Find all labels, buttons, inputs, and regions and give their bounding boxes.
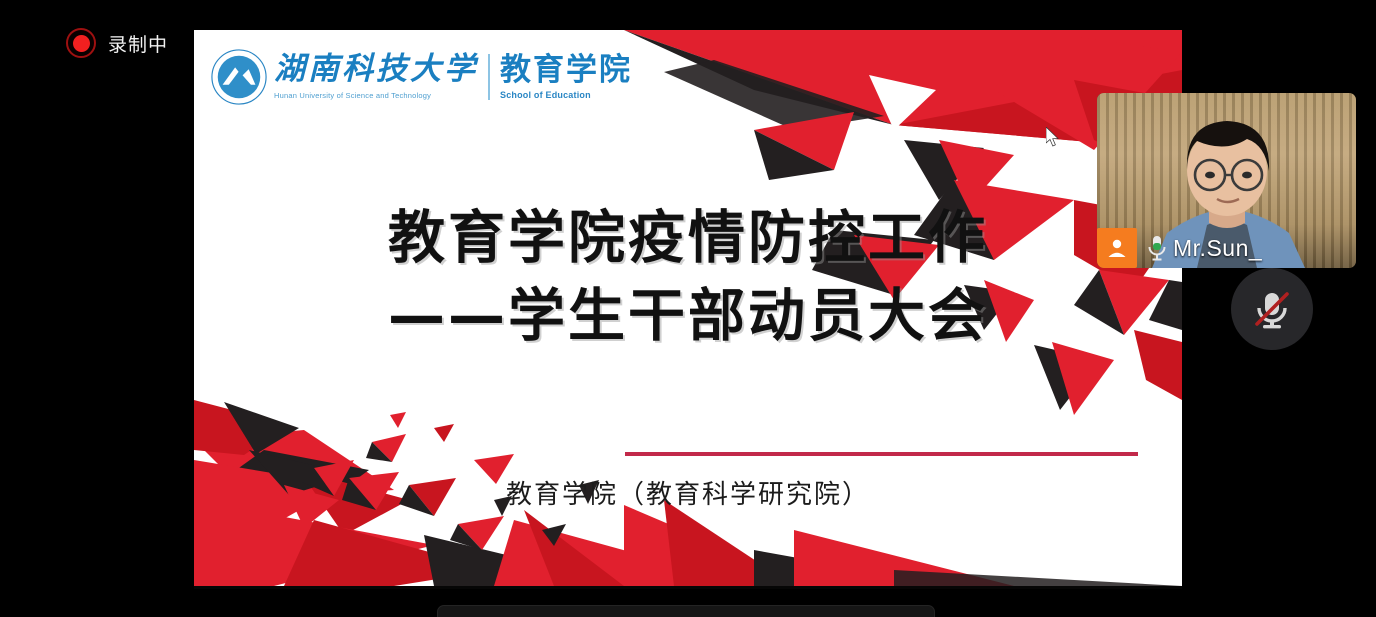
title-divider-rule — [625, 452, 1138, 456]
recording-label: 录制中 — [108, 30, 168, 57]
logo-university-block: 湖南科技大学 Hunan University of Science and T… — [268, 54, 490, 100]
slide-title-block: 教育学院疫情防控工作 ——学生干部动员大会 — [194, 208, 1182, 347]
slide-title-line1: 教育学院疫情防控工作 — [194, 208, 1182, 270]
presentation-slide[interactable]: 湖南科技大学 Hunan University of Science and T… — [194, 30, 1182, 586]
participant-name-label: Mr.Sun_ — [1173, 235, 1262, 262]
logo-university-en: Hunan University of Science and Technolo… — [274, 91, 478, 100]
logo-college-en: School of Education — [500, 90, 632, 100]
screen-root: 录制中 — [0, 0, 1376, 617]
logo-university-cn: 湖南科技大学 — [274, 54, 478, 85]
university-seal-icon — [210, 48, 268, 106]
university-logo: 湖南科技大学 Hunan University of Science and T… — [210, 48, 632, 106]
microphone-muted-icon[interactable] — [1231, 268, 1313, 350]
logo-college-block: 教育学院 School of Education — [490, 54, 632, 100]
slide-title-line2: ——学生干部动员大会 — [194, 286, 1182, 348]
record-dot-icon — [66, 28, 96, 58]
participant-video-tile[interactable]: Mr.Sun_ — [1097, 93, 1356, 268]
recording-indicator: 录制中 — [66, 28, 168, 58]
mouse-pointer-icon — [1046, 127, 1060, 147]
bottom-toolbar[interactable] — [437, 605, 935, 617]
slide-bottom-edge — [194, 586, 1182, 589]
participant-name-bar: Mr.Sun_ — [1097, 228, 1262, 268]
logo-college-cn: 教育学院 — [500, 54, 632, 85]
slide-subtitle: 教育学院（教育科学研究院） — [194, 474, 1182, 511]
person-icon — [1097, 228, 1137, 268]
microphone-icon — [1146, 235, 1168, 261]
